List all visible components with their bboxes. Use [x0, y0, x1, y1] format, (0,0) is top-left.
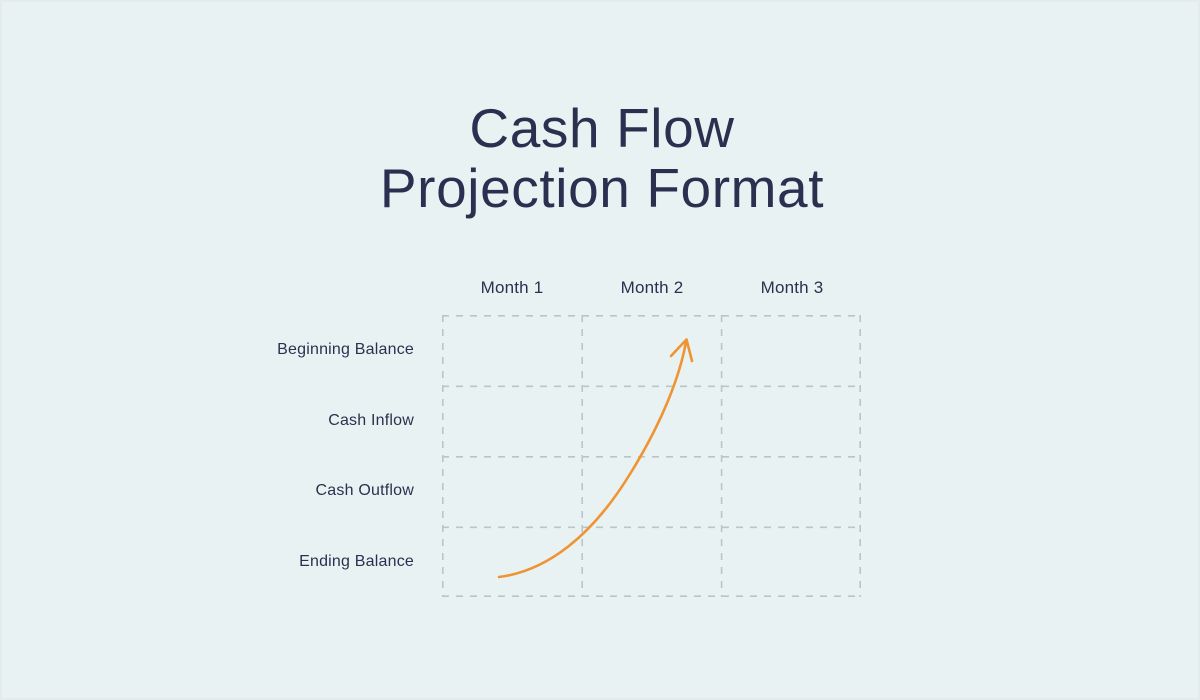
cash-flow-table: Month 1 Month 2 Month 3 Beginning Balanc…	[2, 2, 1200, 700]
table-cell[interactable]	[721, 456, 861, 527]
row-label-ending-balance: Ending Balance	[152, 527, 414, 598]
table-cell[interactable]	[721, 527, 861, 598]
row-label-cash-outflow: Cash Outflow	[152, 456, 414, 527]
column-header-month-3: Month 3	[722, 275, 862, 301]
table-cell[interactable]	[582, 527, 722, 598]
table-cell[interactable]	[442, 386, 582, 457]
column-header-month-2: Month 2	[582, 275, 722, 301]
column-header-month-1: Month 1	[442, 275, 582, 301]
table-cell[interactable]	[582, 315, 722, 386]
table-cell[interactable]	[721, 315, 861, 386]
table-cell[interactable]	[442, 456, 582, 527]
row-label-cash-inflow: Cash Inflow	[152, 386, 414, 457]
table-cell[interactable]	[721, 386, 861, 457]
row-label-beginning-balance: Beginning Balance	[152, 315, 414, 386]
table-cell[interactable]	[442, 527, 582, 598]
table-grid	[442, 315, 861, 597]
table-cell[interactable]	[442, 315, 582, 386]
table-column-headers: Month 1 Month 2 Month 3	[442, 275, 862, 301]
table-row-labels: Beginning Balance Cash Inflow Cash Outfl…	[152, 315, 414, 597]
table-cell[interactable]	[582, 456, 722, 527]
table-cell[interactable]	[582, 386, 722, 457]
poster-canvas: Cash Flow Projection Format Month 1 Mont…	[0, 0, 1200, 700]
